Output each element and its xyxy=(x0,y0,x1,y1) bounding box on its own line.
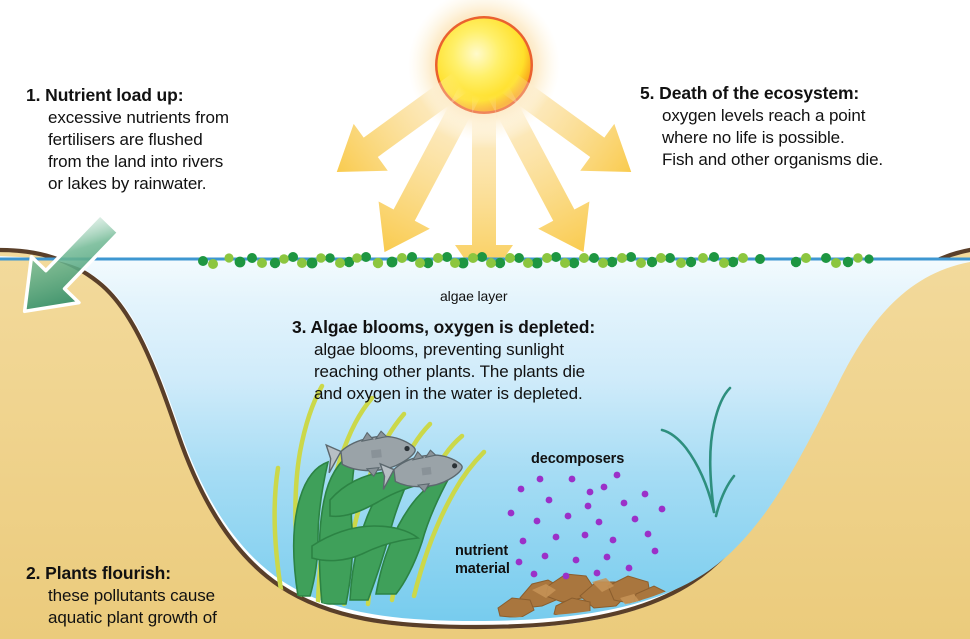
step-2-number: 2. xyxy=(26,563,40,583)
step-2-line-1: these pollutants cause xyxy=(26,585,217,607)
step-1-line-3: from the land into rivers xyxy=(26,151,229,173)
step-1-line-2: fertilisers are flushed xyxy=(26,129,229,151)
step-5-line-3: Fish and other organisms die. xyxy=(640,149,883,171)
step-3-number: 3. xyxy=(292,317,306,337)
step-2-heading: 2. Plants flourish: xyxy=(26,562,217,585)
step-5-line-1: oxygen levels reach a point xyxy=(640,105,883,127)
step-2-text-block: 2. Plants flourish: these pollutants cau… xyxy=(26,562,217,629)
diagram-canvas: 1. Nutrient load up: excessive nutrients… xyxy=(0,0,970,639)
step-3-heading: 3. Algae blooms, oxygen is depleted: xyxy=(292,316,595,339)
step-5-number: 5. xyxy=(640,83,654,103)
step-3-text-block: 3. Algae blooms, oxygen is depleted: alg… xyxy=(292,316,595,405)
nutrient-material-label: nutrient material xyxy=(455,543,510,578)
step-2-heading-text: Plants flourish: xyxy=(45,563,171,583)
step-1-line-1: excessive nutrients from xyxy=(26,107,229,129)
step-3-line-1: algae blooms, preventing sunlight xyxy=(292,339,595,361)
step-1-text-block: 1. Nutrient load up: excessive nutrients… xyxy=(26,84,229,195)
step-5-heading: 5. Death of the ecosystem: xyxy=(640,82,883,105)
step-1-heading-text: Nutrient load up: xyxy=(45,85,183,105)
nutrient-material-line-1: nutrient xyxy=(455,543,510,561)
step-1-heading: 1. Nutrient load up: xyxy=(26,84,229,107)
step-3-line-2: reaching other plants. The plants die xyxy=(292,361,595,383)
step-3-heading-text: Algae blooms, oxygen is depleted: xyxy=(311,317,596,337)
step-3-line-3: and oxygen in the water is depleted. xyxy=(292,383,595,405)
step-1-line-4: or lakes by rainwater. xyxy=(26,173,229,195)
nutrient-material-line-2: material xyxy=(455,561,510,579)
step-5-line-2: where no life is possible. xyxy=(640,127,883,149)
step-1-number: 1. xyxy=(26,85,40,105)
step-5-text-block: 5. Death of the ecosystem: oxygen levels… xyxy=(640,82,883,171)
step-2-line-2: aquatic plant growth of xyxy=(26,607,217,629)
decomposers-label: decomposers xyxy=(531,451,624,467)
step-5-heading-text: Death of the ecosystem: xyxy=(659,83,859,103)
algae-layer-label: algae layer xyxy=(440,288,507,304)
